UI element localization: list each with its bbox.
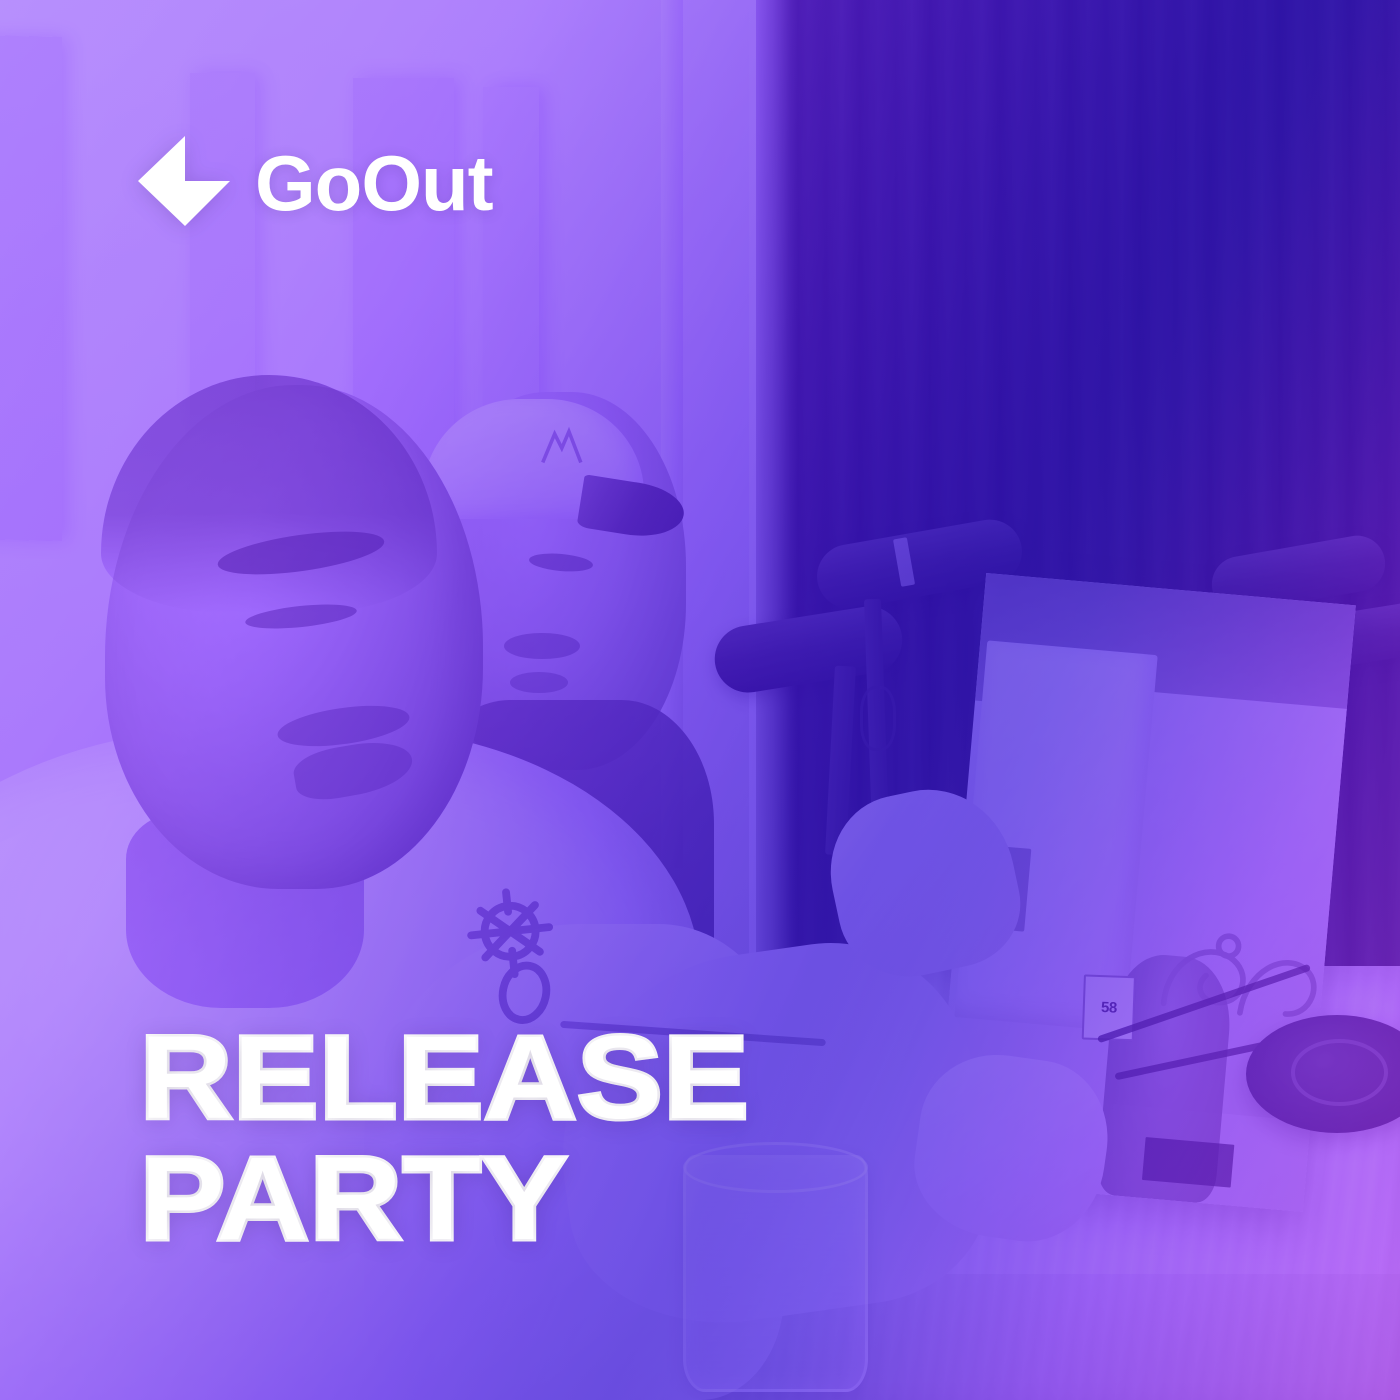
brand-logo[interactable]: GoOut (133, 133, 493, 233)
release-party-poster: 58 (0, 0, 1400, 1400)
goout-arrow-logo-icon (133, 133, 233, 233)
headline-line-release: RELEASE (140, 1024, 749, 1134)
brand-name: GoOut (255, 144, 493, 222)
headline: RELEASE PARTY (140, 1024, 704, 1255)
headline-line-party: PARTY (140, 1145, 749, 1255)
